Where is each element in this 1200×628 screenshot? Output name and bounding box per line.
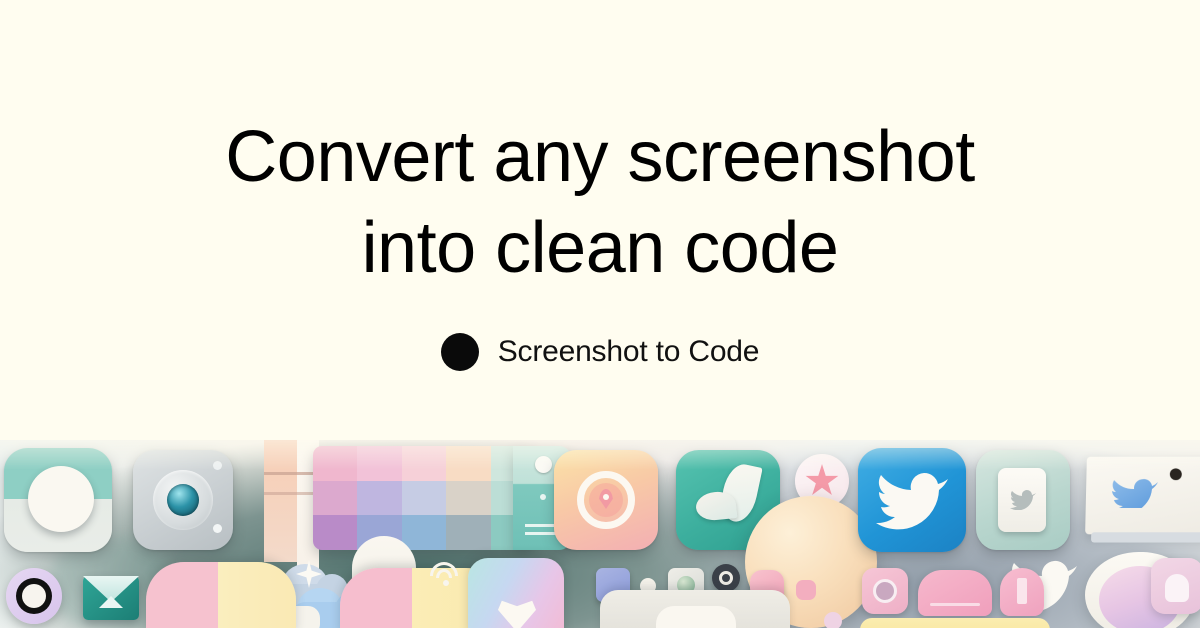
peach-vertical-bar (264, 440, 300, 562)
dark-ring-block (712, 564, 740, 592)
bird-eye-dot (1170, 468, 1182, 480)
pin-dot (603, 494, 609, 500)
mini-bird-glyph (1010, 490, 1036, 510)
camera-icon (133, 450, 233, 550)
white-rounded-panel (600, 590, 790, 628)
mint-small-dot (540, 494, 546, 500)
star-shape (805, 464, 839, 498)
mint-camera-dot (535, 456, 552, 473)
white-heart (498, 598, 536, 628)
brand-name: Screenshot to Code (498, 335, 760, 369)
white-card (998, 468, 1046, 532)
wifi-icon (430, 562, 464, 588)
camera-dot-top (213, 461, 222, 470)
brand-row: Screenshot to Code (441, 333, 760, 371)
small-lilac-dot (824, 612, 842, 628)
ring-core-white (22, 584, 46, 608)
headline-line-2: into clean code (225, 203, 974, 294)
page-title: Convert any screenshot into clean code (225, 112, 974, 295)
camera-dot-bottom (213, 524, 222, 533)
twitter-bird-glyph (876, 472, 948, 530)
mint-pink-heart-icon (468, 558, 564, 628)
purple-ring-icon (6, 568, 62, 624)
peach-pink-tile (146, 562, 296, 628)
headline-line-1: Convert any screenshot (225, 112, 974, 203)
small-pink-block (796, 580, 816, 600)
black-circle-logo-icon (441, 333, 479, 371)
blue-bird-card-icon (1085, 457, 1200, 535)
app-icon-collage-strip (0, 440, 1200, 628)
teal-split-app-icon (4, 448, 112, 552)
card-base (1091, 532, 1200, 542)
pink-cloud-mini-icon (918, 570, 992, 616)
mint-card-icon (976, 450, 1070, 550)
blue-bird-glyph (1110, 478, 1158, 508)
pink-camera-mini-icon (862, 568, 908, 614)
camera-lens (167, 484, 199, 516)
og-card: Convert any screenshot into clean code S… (0, 0, 1200, 628)
pink-right-tile (1151, 558, 1200, 614)
pastel-color-grid (313, 446, 535, 550)
envelope-icon (83, 576, 139, 620)
twitter-bird-icon (858, 448, 966, 552)
white-disc (28, 466, 94, 532)
yellow-bottom-tile (860, 618, 1050, 628)
peach-location-pin-icon (554, 450, 658, 550)
envelope-triangle (99, 596, 123, 608)
pink-badge-mini-icon (1000, 568, 1044, 616)
hero-text-zone: Convert any screenshot into clean code S… (0, 0, 1200, 442)
